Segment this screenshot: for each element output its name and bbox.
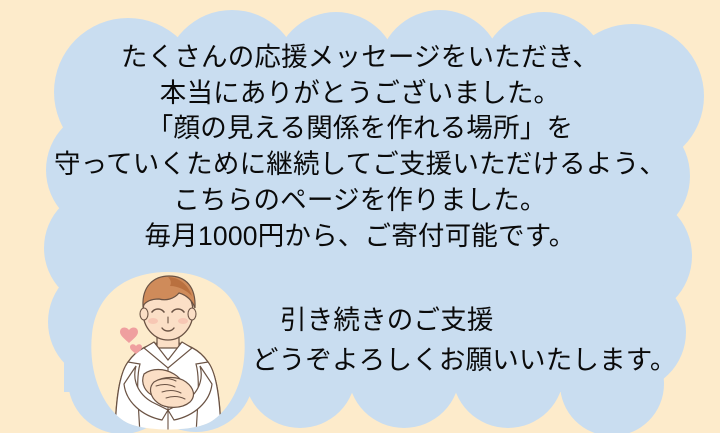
message-line-1: たくさんの応援メッセージをいただき、 [0, 40, 720, 76]
person-hands-on-heart-illustration [82, 268, 254, 433]
message-line-4: 守っていくために継続してご支援いただけるよう、 [0, 147, 720, 183]
left-ear [140, 308, 148, 320]
message-line-3: 「顔の見える関係を作れる場所」を [0, 111, 720, 147]
left-cheek [148, 318, 158, 324]
person-illustration-svg [82, 268, 254, 433]
closing-line-1: 引き続きのご支援 [252, 300, 712, 340]
right-ear [188, 308, 196, 320]
closing-text-block: 引き続きのご支援 どうぞよろしくお願いいたします。 [252, 300, 712, 380]
right-cheek [178, 318, 188, 324]
closing-line-2: どうぞよろしくお願いいたします。 [252, 340, 712, 380]
message-line-2: 本当にありがとうございました。 [0, 76, 720, 112]
message-line-6: 毎月1000円から、ご寄付可能です。 [0, 219, 720, 255]
message-text-block: たくさんの応援メッセージをいただき、 本当にありがとうございました。 「顔の見え… [0, 40, 720, 254]
donation-message-card: たくさんの応援メッセージをいただき、 本当にありがとうございました。 「顔の見え… [0, 0, 720, 433]
message-line-5: こちらのページを作りました。 [0, 183, 720, 219]
